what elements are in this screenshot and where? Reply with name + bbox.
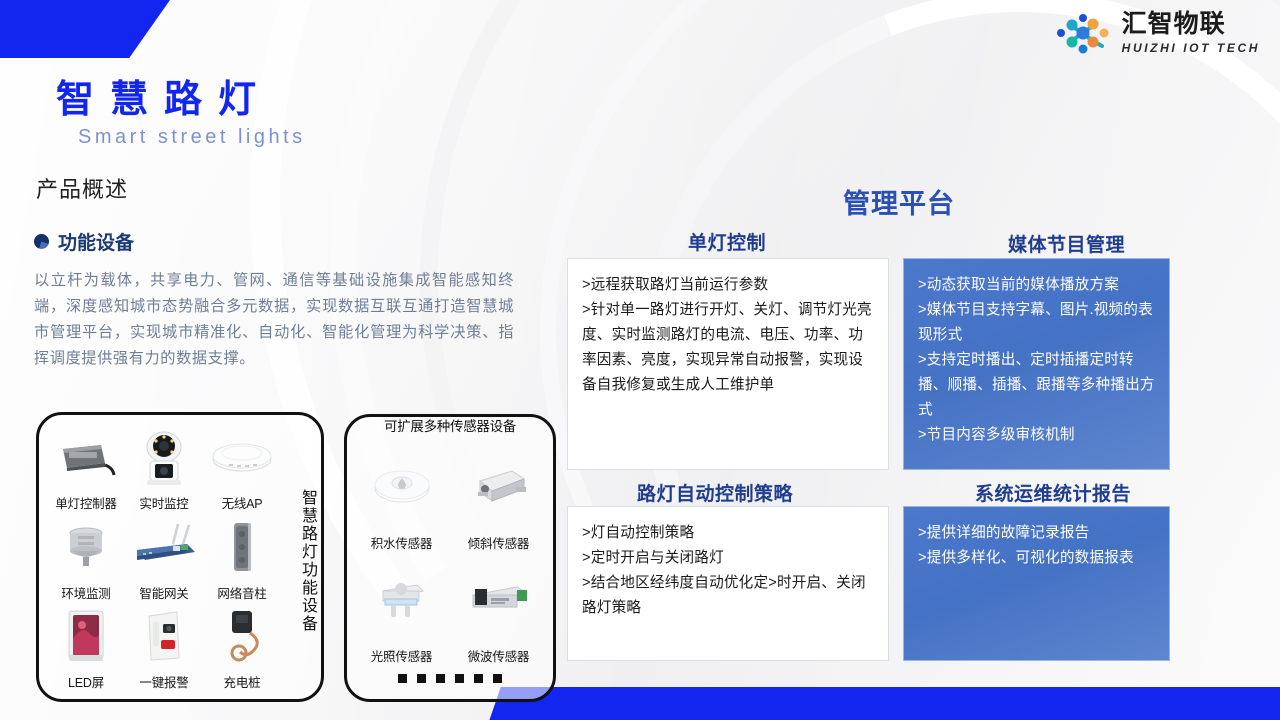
more-sensors-dots bbox=[347, 674, 553, 683]
emergency-button-icon bbox=[125, 602, 203, 671]
platform-title: 管理平台 bbox=[843, 182, 955, 221]
card-line: >动态获取当前的媒体播放方案 bbox=[918, 273, 1157, 298]
pie-bullet-icon bbox=[34, 234, 49, 249]
brand-name-en: HUIZHI IOT TECH bbox=[1122, 42, 1260, 54]
wireless-ap-icon bbox=[203, 423, 281, 492]
card-line: >媒体节目支持字幕、图片.视频的表现形式 bbox=[918, 298, 1157, 348]
device-label: 网络音柱 bbox=[217, 583, 266, 602]
overview-bullet-label: 功能设备 bbox=[58, 228, 134, 255]
bottom-right-accent-bar bbox=[470, 687, 1280, 720]
device-item: 环境监测 bbox=[47, 512, 125, 601]
card-line: >远程获取路灯当前运行参数 bbox=[582, 273, 876, 298]
sensor-item: 积水传感器 bbox=[353, 439, 450, 552]
page-title: 智慧路灯 bbox=[56, 68, 272, 123]
card-heading-system-ops-statistics-report: 系统运维统计报告 bbox=[975, 479, 1131, 506]
card-heading-single-lamp-control: 单灯控制 bbox=[688, 228, 766, 255]
device-label: 环境监测 bbox=[61, 583, 110, 602]
device-item: 实时监控 bbox=[125, 423, 203, 512]
charging-pile-icon bbox=[203, 602, 281, 671]
device-item: 充电桩 bbox=[203, 602, 281, 691]
brand-logo: 汇智物联 HUIZHI IOT TECH bbox=[1052, 10, 1260, 56]
page-subtitle: Smart street lights bbox=[78, 126, 306, 149]
device-label: 智能网关 bbox=[139, 583, 188, 602]
slide-root: 汇智物联 HUIZHI IOT TECH 智慧路灯 Smart street l… bbox=[0, 0, 1280, 720]
sensor-item: 微波传感器 bbox=[450, 552, 547, 665]
microwave-sensor-icon bbox=[450, 552, 547, 645]
brand-name-cn: 汇智物联 bbox=[1122, 12, 1260, 37]
card-line: >节目内容多级审核机制 bbox=[918, 423, 1157, 448]
card-line: >灯自动控制策略 bbox=[582, 521, 876, 546]
device-label: 单灯控制器 bbox=[55, 493, 117, 512]
sensor-item: 倾斜传感器 bbox=[450, 439, 547, 552]
device-item: 一键报警 bbox=[125, 602, 203, 691]
card-line: >支持定时播出、定时插播定时转播、顺播、插播、跟播等多种播出方式 bbox=[918, 348, 1157, 423]
led-driver-icon bbox=[47, 423, 125, 492]
tilt-sensor-icon bbox=[450, 439, 547, 532]
device-label: 无线AP bbox=[222, 493, 263, 512]
device-item: 单灯控制器 bbox=[47, 423, 125, 512]
sensor-label: 光照传感器 bbox=[371, 646, 433, 665]
sensor-item: 光照传感器 bbox=[353, 552, 450, 665]
card-heading-media-program-management: 媒体节目管理 bbox=[1008, 230, 1125, 257]
device-item: 无线AP bbox=[203, 423, 281, 512]
card-line: >结合地区经纬度自动优化定>时开启、关闭路灯策略 bbox=[582, 571, 876, 621]
card-line: >提供详细的故障记录报告 bbox=[918, 521, 1157, 546]
sensor-label: 积水传感器 bbox=[371, 533, 433, 552]
card-streetlight-auto-control-policy: >灯自动控制策略 >定时开启与关闭路灯 >结合地区经纬度自动优化定>时开启、关闭… bbox=[567, 506, 889, 661]
brand-logo-text: 汇智物联 HUIZHI IOT TECH bbox=[1122, 12, 1260, 54]
sensor-label: 微波传感器 bbox=[468, 646, 530, 665]
device-item: 网络音柱 bbox=[203, 512, 281, 601]
device-label: LED屏 bbox=[68, 672, 104, 691]
sensor-grid: 积水传感器 倾斜传感器 bbox=[353, 439, 547, 665]
overview-paragraph: 以立杆为载体，共享电力、管网、通信等基础设施集成智能感知终端，深度感知城市态势融… bbox=[34, 268, 514, 372]
section-title-overview: 产品概述 bbox=[36, 172, 128, 204]
card-line: >提供多样化、可视化的数据报表 bbox=[918, 546, 1157, 571]
network-speaker-icon bbox=[203, 512, 281, 581]
card-system-ops-statistics-report: >提供详细的故障记录报告 >提供多样化、可视化的数据报表 bbox=[903, 506, 1170, 661]
molecule-network-icon bbox=[1052, 10, 1114, 56]
device-label: 充电桩 bbox=[224, 672, 261, 691]
card-single-lamp-control: >远程获取路灯当前运行参数 >针对单一路灯进行开灯、关灯、调节灯光亮度、实时监测… bbox=[567, 258, 889, 470]
function-device-box: 单灯控制器 实 bbox=[36, 412, 324, 702]
device-item: LED屏 bbox=[47, 602, 125, 691]
card-media-program-management: >动态获取当前的媒体播放方案 >媒体节目支持字幕、图片.视频的表现形式 >支持定… bbox=[903, 258, 1170, 470]
water-sensor-icon bbox=[353, 439, 450, 532]
card-heading-streetlight-auto-control-policy: 路灯自动控制策略 bbox=[637, 479, 793, 506]
overview-bullet: 功能设备 bbox=[34, 228, 134, 255]
device-item: 智能网关 bbox=[125, 512, 203, 601]
device-label: 实时监控 bbox=[139, 493, 188, 512]
sensor-label: 倾斜传感器 bbox=[468, 533, 530, 552]
ptz-camera-icon bbox=[125, 423, 203, 492]
device-box-vertical-label: 智慧路灯功能设备 bbox=[285, 433, 315, 689]
card-line: >针对单一路灯进行开灯、关灯、调节灯光亮度、实时监测路灯的电流、电压、功率、功率… bbox=[582, 298, 876, 398]
device-grid: 单灯控制器 实 bbox=[47, 423, 281, 691]
device-label: 一键报警 bbox=[139, 672, 188, 691]
environment-sensor-icon bbox=[47, 512, 125, 581]
card-line: >定时开启与关闭路灯 bbox=[582, 546, 876, 571]
sensor-box-heading: 可扩展多种传感器设备 bbox=[347, 415, 553, 435]
smart-gateway-icon bbox=[125, 512, 203, 581]
led-screen-icon bbox=[47, 602, 125, 671]
sensor-device-box: 可扩展多种传感器设备 积水传感器 bbox=[344, 414, 556, 702]
light-sensor-icon bbox=[353, 552, 450, 645]
